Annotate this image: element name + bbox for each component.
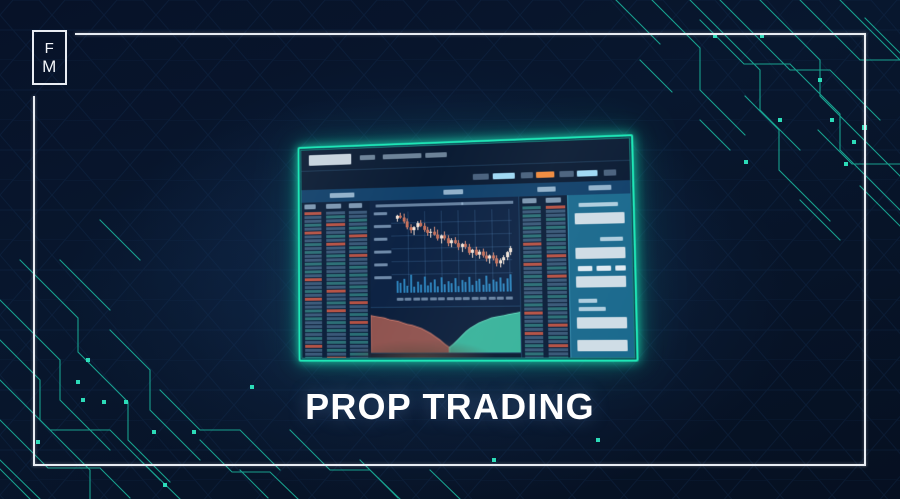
order-type-button[interactable] — [615, 265, 626, 270]
table-row — [547, 246, 567, 249]
volume-bar — [413, 286, 415, 292]
candlestick — [479, 250, 480, 259]
volume-bar — [496, 281, 498, 291]
volume-bar — [447, 281, 449, 292]
volume-bar — [437, 287, 439, 293]
table-row — [546, 209, 565, 213]
table-row — [327, 329, 346, 332]
table-row — [548, 340, 568, 343]
table-row — [525, 328, 543, 331]
order-symbol-field[interactable] — [575, 212, 625, 224]
table-row — [547, 291, 567, 294]
table-row — [524, 316, 542, 319]
x-axis-tick-label — [438, 297, 445, 300]
x-axis-tick-label — [430, 297, 437, 300]
x-axis-tick-label — [446, 297, 453, 300]
table-row — [305, 333, 322, 336]
table-row — [327, 345, 346, 348]
x-axis-tick-label — [397, 298, 404, 301]
table-row — [304, 212, 321, 215]
volume-bar — [396, 281, 398, 293]
table-row — [349, 211, 367, 214]
table-row — [524, 283, 542, 286]
table-row — [549, 352, 569, 355]
depth-column-bid — [304, 212, 322, 352]
candlestick — [486, 251, 487, 261]
table-row — [327, 313, 346, 316]
candlestick — [462, 243, 463, 252]
table-row — [327, 278, 346, 281]
terminal-ticker-label-1 — [473, 174, 489, 180]
candlestick — [400, 212, 401, 219]
table-row — [349, 289, 367, 292]
candlestick — [434, 227, 435, 236]
table-row — [305, 278, 322, 281]
order-price-field[interactable] — [576, 276, 626, 288]
table-row — [349, 281, 367, 284]
candlestick — [448, 236, 449, 246]
table-row — [548, 311, 568, 314]
table-row — [349, 230, 367, 233]
table-row — [549, 348, 569, 351]
y-axis-tick-label — [374, 212, 388, 215]
logo-letter-f: F — [45, 41, 55, 56]
table-row — [546, 218, 566, 222]
table-row — [305, 317, 322, 320]
table-row — [327, 357, 346, 359]
candlestick — [437, 230, 438, 240]
table-row — [548, 328, 568, 331]
table-row — [524, 279, 542, 282]
depth-column-price — [326, 211, 346, 351]
table-row — [525, 356, 543, 358]
terminal-menu-item-2 — [383, 153, 422, 159]
candlestick — [472, 248, 473, 257]
table-row — [326, 266, 345, 269]
table-row — [524, 271, 542, 274]
order-buy-button[interactable] — [578, 266, 593, 271]
candlestick — [427, 227, 428, 236]
table-row — [547, 279, 567, 282]
table-row — [326, 211, 345, 214]
volume-bar — [478, 279, 480, 292]
table-row — [305, 274, 322, 277]
terminal-ticker-label-3 — [559, 171, 573, 178]
candlestick — [496, 255, 497, 265]
table-row — [305, 341, 322, 344]
table-row — [349, 254, 367, 257]
volume-bar — [458, 286, 460, 292]
table-row — [305, 357, 322, 359]
candlestick — [451, 238, 452, 247]
x-axis-tick-label — [405, 298, 412, 301]
x-axis-tick-label — [413, 298, 420, 301]
table-row — [327, 282, 346, 285]
candlestick — [431, 229, 432, 238]
terminal-time-and-sales-panel — [518, 195, 571, 357]
terminal-ticker-label-4 — [604, 169, 617, 175]
candlestick — [407, 219, 408, 229]
table-row — [305, 313, 322, 316]
table-row — [524, 287, 542, 290]
table-row — [349, 222, 367, 225]
table-row — [327, 341, 346, 344]
table-row — [523, 234, 541, 237]
candlestick — [397, 215, 398, 222]
volume-bar — [423, 277, 425, 293]
trading-terminal-photo — [300, 137, 635, 358]
table-row — [525, 340, 543, 343]
table-row — [305, 227, 322, 230]
table-row — [350, 301, 368, 304]
table-row — [547, 258, 567, 261]
table-row — [326, 219, 345, 222]
table-row — [524, 267, 542, 270]
table-row — [326, 246, 345, 249]
table-row — [327, 321, 346, 324]
sales-column-price — [546, 205, 568, 351]
table-row — [305, 306, 322, 309]
table-row — [349, 262, 367, 265]
candlestick — [455, 237, 456, 244]
table-row — [305, 243, 322, 246]
x-axis-tick-label — [505, 297, 512, 300]
table-row — [305, 337, 322, 340]
table-row — [327, 317, 346, 320]
terminal-ticker-value-2 — [536, 171, 554, 178]
volume-bar — [485, 275, 487, 292]
table-row — [524, 291, 542, 294]
table-row — [349, 215, 367, 218]
table-row — [327, 349, 346, 352]
table-row — [525, 324, 543, 327]
terminal-market-depth-panel — [302, 201, 373, 358]
table-row — [327, 309, 346, 312]
table-row — [305, 262, 322, 265]
terminal-menu-item-3 — [425, 152, 447, 158]
table-row — [548, 344, 568, 347]
volume-bar — [406, 285, 408, 292]
fm-logo: F M — [32, 30, 67, 85]
hand-silhouette — [346, 339, 497, 358]
terminal-ticker-value-1 — [493, 173, 515, 180]
table-row — [523, 246, 541, 249]
sales-column-time — [522, 206, 543, 351]
table-row — [326, 231, 345, 234]
x-axis-tick-label — [421, 297, 428, 300]
table-row — [305, 353, 322, 356]
y-axis-tick-label — [374, 225, 391, 228]
x-axis-tick-label — [488, 297, 495, 300]
table-row — [327, 333, 346, 336]
table-row — [349, 242, 367, 245]
candlestick — [503, 255, 504, 264]
table-row — [305, 231, 322, 234]
table-row — [305, 286, 322, 289]
volume-bar — [451, 283, 453, 292]
table-row — [548, 303, 568, 306]
table-row — [349, 258, 367, 261]
candlestick — [410, 224, 411, 234]
table-row — [326, 223, 345, 226]
table-row — [523, 242, 541, 245]
candlestick — [493, 253, 494, 260]
table-row — [350, 333, 368, 336]
depth-column-ask — [349, 211, 368, 352]
table-row — [305, 302, 322, 305]
terminal-ticker-value-3 — [577, 170, 598, 177]
table-row — [546, 234, 566, 237]
table-row — [524, 275, 542, 278]
table-row — [327, 290, 346, 293]
table-row — [349, 273, 367, 276]
table-row — [305, 309, 322, 312]
table-row — [349, 293, 367, 296]
table-row — [547, 254, 567, 257]
order-stop-field[interactable] — [577, 317, 627, 329]
table-row — [523, 259, 541, 262]
table-row — [305, 329, 322, 332]
table-row — [547, 266, 567, 269]
volume-bar — [430, 282, 432, 292]
table-row — [548, 324, 568, 327]
terminal-app-logo — [309, 154, 351, 166]
y-axis-tick-label — [374, 263, 388, 266]
volume-bar — [489, 283, 491, 292]
table-row — [350, 329, 368, 332]
table-row — [349, 266, 367, 269]
order-panel-title — [579, 202, 619, 207]
candlestick — [417, 222, 418, 231]
table-row — [304, 216, 321, 219]
volume-bar — [506, 279, 508, 292]
table-row — [524, 307, 542, 310]
terminal-ticker-label-2 — [521, 172, 533, 178]
volume-bar — [461, 280, 463, 292]
table-row — [305, 251, 322, 254]
terminal-screen — [300, 137, 635, 358]
table-row — [305, 247, 322, 250]
table-row — [523, 218, 541, 221]
x-axis-tick-label — [463, 297, 470, 300]
order-quantity-field[interactable] — [575, 247, 625, 259]
table-row — [524, 320, 542, 323]
table-row — [546, 222, 566, 225]
table-row — [326, 235, 345, 238]
table-row — [349, 226, 367, 229]
table-row — [525, 348, 543, 351]
table-row — [523, 263, 541, 266]
table-row — [305, 235, 322, 238]
table-row — [547, 270, 567, 273]
volume-bar — [499, 277, 501, 291]
table-row — [546, 226, 566, 229]
table-row — [326, 274, 345, 277]
candlestick — [424, 223, 425, 232]
table-row — [350, 325, 368, 328]
promo-graphic: F M — [0, 0, 900, 499]
terminal-tab-3 — [537, 186, 555, 192]
table-row — [350, 305, 368, 308]
table-row — [525, 344, 543, 347]
order-summary-line-2 — [579, 307, 606, 311]
candlestick — [475, 247, 476, 256]
volume-bar — [444, 284, 446, 292]
table-row — [523, 214, 541, 217]
table-row — [349, 270, 367, 273]
table-row — [327, 305, 346, 308]
table-row — [547, 262, 567, 265]
table-row — [305, 345, 322, 348]
volume-bar — [510, 274, 512, 292]
table-row — [548, 319, 568, 322]
table-row — [327, 325, 346, 328]
table-row — [305, 294, 322, 297]
table-row — [326, 242, 345, 245]
table-row — [349, 218, 367, 221]
order-submit-button[interactable] — [577, 340, 628, 352]
table-row — [525, 336, 543, 339]
table-row — [305, 298, 322, 301]
candlestick — [403, 214, 404, 224]
table-row — [350, 309, 368, 312]
depth-header-bid — [304, 204, 315, 209]
volume-bar — [454, 278, 456, 292]
y-axis-tick-label — [374, 250, 391, 253]
table-row — [305, 224, 322, 227]
table-row — [349, 246, 367, 249]
table-row — [523, 226, 541, 229]
table-row — [327, 293, 346, 296]
x-axis-tick-label — [497, 297, 504, 300]
table-row — [305, 325, 322, 328]
x-axis-tick-label — [480, 297, 487, 300]
table-row — [349, 285, 367, 288]
candlestick — [414, 226, 415, 235]
terminal-tab-2 — [443, 189, 463, 195]
table-row — [349, 297, 367, 300]
order-summary-line-1 — [578, 299, 597, 303]
volume-bar — [410, 275, 412, 293]
table-row — [326, 250, 345, 253]
candlestick — [444, 231, 445, 240]
sales-header-time — [522, 198, 536, 203]
table-row — [523, 255, 541, 258]
candlestick — [482, 248, 483, 257]
table-row — [522, 206, 540, 210]
table-row — [548, 332, 568, 335]
table-row — [523, 230, 541, 233]
table-row — [305, 259, 322, 262]
table-row — [326, 239, 345, 242]
volume-bar — [420, 284, 422, 292]
candlestick — [441, 234, 442, 243]
volume-bar — [465, 282, 467, 292]
table-row — [523, 250, 541, 253]
table-row — [523, 222, 541, 225]
volume-bar — [434, 280, 436, 293]
volume-bar — [440, 277, 442, 292]
table-row — [546, 242, 566, 245]
table-row — [305, 290, 322, 293]
table-row — [326, 215, 345, 218]
table-row — [548, 299, 568, 302]
table-row — [548, 336, 568, 339]
table-row — [327, 301, 346, 304]
depth-header-price — [326, 204, 341, 209]
y-axis-tick-label — [374, 238, 388, 241]
page-title: PROP TRADING — [0, 386, 900, 428]
table-row — [326, 270, 345, 273]
volume-bar — [400, 283, 402, 292]
volume-bar — [403, 279, 405, 293]
table-row — [327, 353, 346, 356]
table-row — [305, 349, 322, 352]
volume-bar — [427, 286, 429, 293]
table-row — [547, 283, 567, 286]
candlestick — [420, 220, 421, 227]
volume-bar — [468, 277, 470, 292]
table-row — [548, 307, 568, 310]
table-row — [304, 220, 321, 223]
table-row — [546, 238, 566, 241]
volume-bar — [503, 284, 505, 292]
candlestick — [458, 240, 459, 250]
table-row — [327, 286, 346, 289]
volume-bar — [475, 281, 477, 292]
price-chart-panel — [370, 197, 521, 307]
volume-bar — [492, 280, 494, 292]
candlestick — [510, 246, 511, 255]
table-row — [549, 356, 569, 358]
logo-letter-m: M — [42, 58, 57, 75]
table-row — [350, 317, 368, 320]
terminal-tab-4 — [588, 185, 611, 191]
order-quantity-label — [600, 237, 623, 242]
table-row — [546, 230, 566, 233]
table-row — [305, 282, 322, 285]
table-row — [305, 321, 322, 324]
table-row — [326, 254, 345, 257]
table-row — [547, 287, 567, 290]
order-sell-button[interactable] — [596, 266, 611, 271]
x-axis-tick-label — [471, 297, 478, 300]
table-row — [524, 311, 542, 314]
volume-bar — [472, 284, 474, 291]
table-row — [546, 205, 565, 209]
depth-header-ask — [349, 203, 362, 208]
table-row — [305, 266, 322, 269]
table-row — [524, 303, 542, 306]
volume-bar — [417, 282, 419, 293]
terminal-menu-item-1 — [360, 155, 375, 160]
table-row — [349, 277, 367, 280]
volume-bar — [482, 285, 484, 292]
candlestick — [489, 254, 490, 263]
sales-header-price — [546, 197, 561, 202]
table-row — [349, 250, 367, 253]
table-row — [305, 255, 322, 258]
table-row — [524, 299, 542, 302]
table-row — [524, 295, 542, 298]
gridline-horizontal — [392, 259, 513, 262]
table-row — [305, 239, 322, 242]
table-row — [547, 250, 567, 253]
table-row — [305, 270, 322, 273]
candlestick — [507, 251, 508, 260]
table-row — [327, 337, 346, 340]
terminal-order-entry-panel — [567, 193, 634, 357]
